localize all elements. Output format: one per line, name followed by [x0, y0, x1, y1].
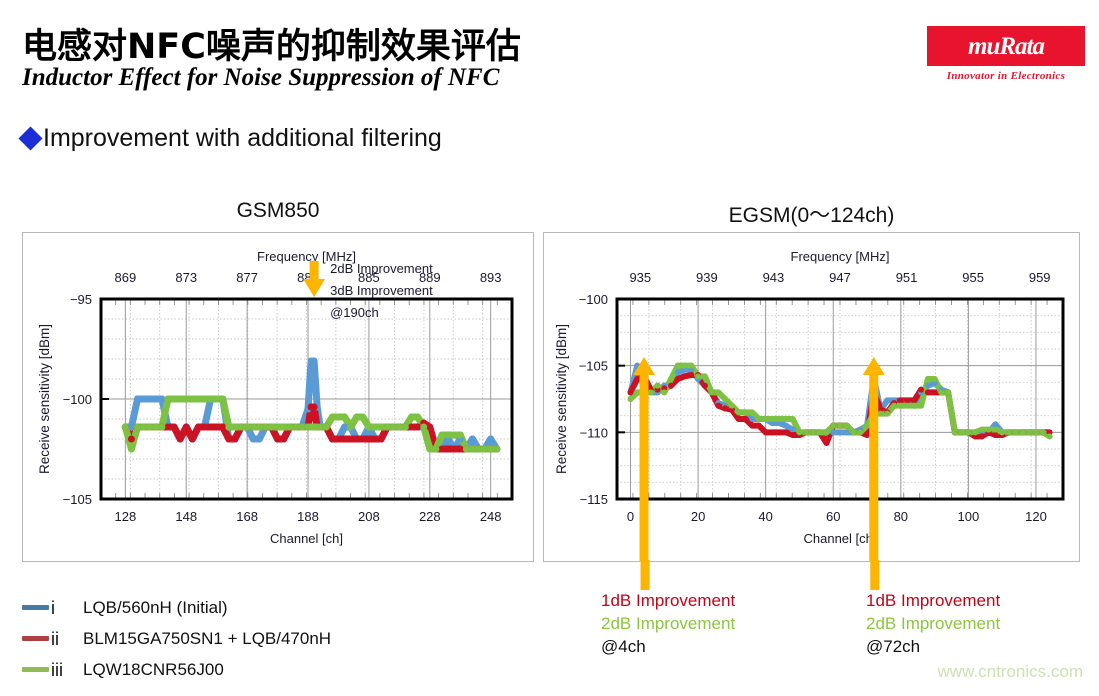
annotation-4ch: 1dB Improvement 2dB Improvement @4ch: [601, 589, 735, 658]
svg-text:Channel [ch]: Channel [ch]: [804, 531, 877, 546]
annotation-72ch-line2: 2dB Improvement: [866, 612, 1000, 635]
bullet-heading: Improvement with additional filtering: [22, 124, 442, 153]
svg-text:Receive sensitivity [dBm]: Receive sensitivity [dBm]: [554, 324, 569, 474]
chart-svg-egsm: Frequency [MHz]935939943947951955959−100…: [544, 233, 1079, 561]
svg-text:128: 128: [115, 509, 137, 524]
legend-item-iii: iii LQW18CNR56J00: [22, 654, 352, 685]
legend-swatch-i: [22, 605, 49, 610]
svg-text:−105: −105: [63, 492, 92, 507]
annotation-72ch-line1: 1dB Improvement: [866, 589, 1000, 612]
bullet-heading-label: Improvement with additional filtering: [43, 124, 442, 153]
page-title-chinese: 电感对NFC噪声的抑制效果评估: [22, 18, 521, 69]
legend-label-i: LQB/560nH (Initial): [83, 598, 228, 618]
svg-text:188: 188: [297, 509, 319, 524]
annotation-72ch-line3: @72ch: [866, 635, 1000, 658]
svg-text:873: 873: [175, 270, 197, 285]
series-legend: i LQB/560nH (Initial) ii BLM15GA750SN1 +…: [22, 592, 352, 685]
murata-logo: muRata Innovator in Electronics: [927, 26, 1085, 82]
svg-text:943: 943: [763, 270, 785, 285]
legend-swatch-ii: [22, 636, 49, 641]
legend-item-i: i LQB/560nH (Initial): [22, 592, 352, 623]
svg-text:40: 40: [758, 509, 772, 524]
svg-text:951: 951: [896, 270, 918, 285]
annotation-72ch: 1dB Improvement 2dB Improvement @72ch: [866, 589, 1000, 658]
svg-text:−100: −100: [63, 392, 92, 407]
svg-text:869: 869: [115, 270, 137, 285]
callout-190ch-line2: 3dB Improvement: [330, 283, 433, 298]
svg-text:228: 228: [419, 509, 441, 524]
svg-text:Channel [ch]: Channel [ch]: [270, 531, 343, 546]
svg-text:939: 939: [696, 270, 718, 285]
up-arrow-stem-2: [870, 560, 879, 590]
svg-text:168: 168: [236, 509, 258, 524]
chart-svg-gsm850: Frequency [MHz]869873877881885889893−95−…: [23, 233, 533, 561]
legend-item-ii: ii BLM15GA750SN1 + LQB/470nH: [22, 623, 352, 654]
chart-title-gsm850: GSM850: [22, 199, 534, 223]
svg-text:0: 0: [627, 509, 634, 524]
svg-text:120: 120: [1025, 509, 1047, 524]
up-arrow-stem-1: [641, 560, 650, 590]
svg-text:−100: −100: [579, 292, 608, 307]
chart-panel-egsm: Frequency [MHz]935939943947951955959−100…: [543, 232, 1080, 562]
logo-wordmark: muRata: [968, 34, 1044, 59]
logo-tagline: Innovator in Electronics: [927, 70, 1085, 82]
svg-text:20: 20: [691, 509, 705, 524]
logo-box: muRata: [927, 26, 1085, 66]
svg-text:208: 208: [358, 509, 380, 524]
chart-title-egsm: EGSM(0〜124ch): [543, 199, 1080, 229]
legend-label-iii: LQW18CNR56J00: [83, 660, 224, 680]
svg-text:Receive sensitivity [dBm]: Receive sensitivity [dBm]: [37, 324, 52, 474]
callout-190ch-line1: 2dB Improvement: [330, 261, 433, 276]
chart-panel-gsm850: Frequency [MHz]869873877881885889893−95−…: [22, 232, 534, 562]
annotation-4ch-line3: @4ch: [601, 635, 735, 658]
legend-label-ii: BLM15GA750SN1 + LQB/470nH: [83, 629, 331, 649]
svg-text:947: 947: [829, 270, 851, 285]
diamond-marker-icon: [18, 126, 42, 150]
down-arrow-icon: [303, 261, 325, 297]
legend-roman-iii: iii: [51, 661, 73, 679]
svg-text:100: 100: [958, 509, 980, 524]
svg-text:−110: −110: [580, 425, 608, 440]
svg-text:−95: −95: [70, 292, 92, 307]
page-title-english: Inductor Effect for Noise Suppression of…: [22, 64, 499, 92]
svg-text:893: 893: [480, 270, 502, 285]
svg-text:248: 248: [480, 509, 502, 524]
svg-text:60: 60: [826, 509, 840, 524]
annotation-4ch-line2: 2dB Improvement: [601, 612, 735, 635]
svg-text:Frequency [MHz]: Frequency [MHz]: [791, 249, 890, 264]
svg-text:80: 80: [894, 509, 908, 524]
svg-text:877: 877: [236, 270, 258, 285]
legend-swatch-iii: [22, 667, 49, 672]
svg-text:955: 955: [962, 270, 984, 285]
svg-text:−115: −115: [580, 492, 608, 507]
svg-text:−105: −105: [579, 359, 608, 374]
site-watermark: www.cntronics.com: [938, 662, 1083, 682]
annotation-4ch-line1: 1dB Improvement: [601, 589, 735, 612]
svg-text:935: 935: [629, 270, 651, 285]
legend-roman-i: i: [51, 599, 73, 617]
svg-text:148: 148: [175, 509, 197, 524]
callout-190ch-line3: @190ch: [330, 305, 379, 320]
legend-roman-ii: ii: [51, 630, 73, 648]
svg-text:959: 959: [1029, 270, 1051, 285]
